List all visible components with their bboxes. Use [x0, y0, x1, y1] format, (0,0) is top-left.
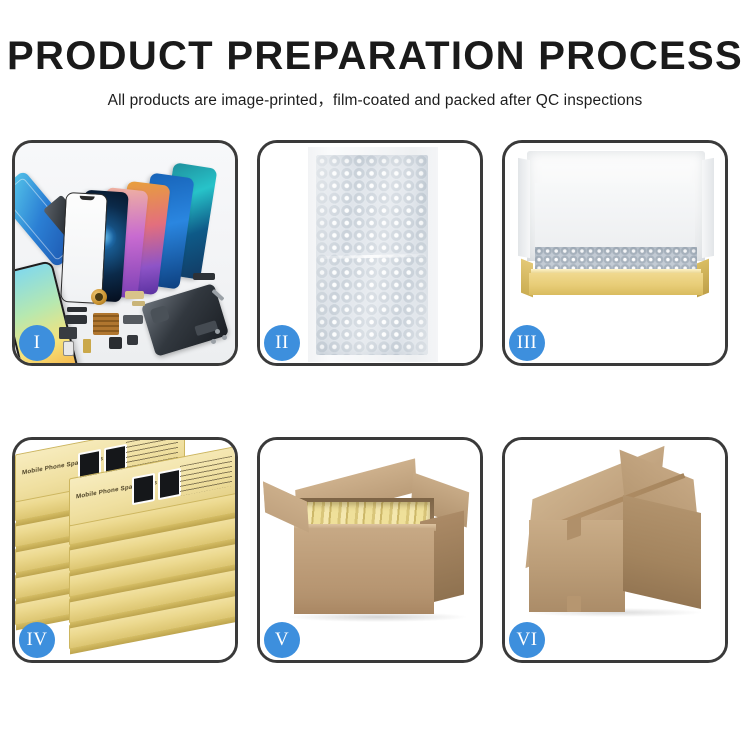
process-step-panel-4: Mobile Phone Spare Parts Mobile Phone Sp… — [12, 437, 238, 663]
step-badge-5: V — [264, 622, 300, 658]
flex-cable-icon — [193, 273, 215, 280]
screw-icon — [215, 329, 220, 334]
carton-side-face — [623, 495, 701, 609]
ribbon-cable-icon — [65, 315, 87, 324]
box-spec-lines — [180, 456, 232, 496]
metal-bracket-icon — [123, 315, 143, 324]
screen-protector-icon — [60, 192, 108, 304]
connector-block-icon — [59, 327, 77, 339]
carton-tab-icon — [567, 596, 581, 612]
box-stack: Mobile Phone Spare Parts Mobile Phone Sp… — [15, 452, 235, 652]
gold-connector-icon — [125, 291, 144, 299]
sim-tray-icon — [63, 341, 74, 356]
process-step-grid: I II III — [12, 140, 738, 663]
step-badge-3: III — [509, 325, 545, 361]
box-screen-graphic — [158, 468, 181, 500]
camera-module-icon — [109, 337, 122, 349]
step-badge-2: II — [264, 325, 300, 361]
box-screen-graphic — [132, 473, 155, 505]
process-step-panel-3: III — [502, 140, 728, 366]
kraft-box-front-icon — [529, 273, 703, 295]
step-badge-4: IV — [19, 622, 55, 658]
product-preparation-process-page: PRODUCT PREPARATION PROCESS All products… — [0, 0, 750, 750]
process-step-panel-2: II — [257, 140, 483, 366]
gold-contact-icon — [132, 301, 145, 306]
page-subtitle: All products are image-printed，film-coat… — [0, 77, 750, 110]
process-step-panel-6: VI — [502, 437, 728, 663]
small-part-strip-icon — [67, 307, 87, 312]
carton-front-panel — [294, 528, 434, 614]
box-interior — [535, 183, 695, 257]
battery-connector-icon — [83, 339, 91, 353]
process-step-panel-1: I — [12, 140, 238, 366]
step-badge-1: I — [19, 325, 55, 361]
screw-icon — [222, 335, 227, 340]
process-step-panel-5: V — [257, 437, 483, 663]
page-title: PRODUCT PREPARATION PROCESS — [0, 0, 750, 77]
vibration-motor-icon — [127, 335, 138, 345]
header: PRODUCT PREPARATION PROCESS All products… — [0, 0, 750, 110]
speaker-module-icon — [91, 289, 107, 305]
step-badge-6: VI — [509, 622, 545, 658]
screw-icon — [211, 339, 216, 344]
copper-grid-icon — [93, 313, 119, 335]
